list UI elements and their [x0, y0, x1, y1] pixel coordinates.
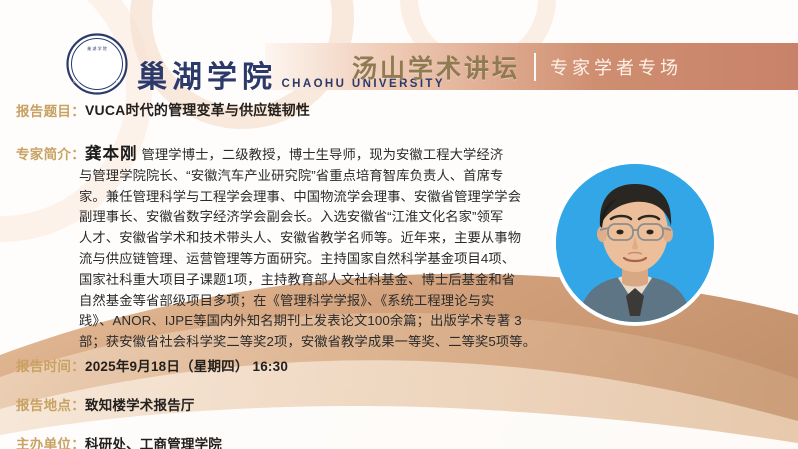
bio-line: 自然基金等省部级项目多项；在《管理科学学报》、《系统工程理论与实 — [16, 291, 556, 312]
bio-first-line: 专家简介： 龚本刚 管理学博士，二级教授，博士生导师，现为安徽工程大学经济 — [16, 140, 556, 166]
university-seal-icon: 巢 湖 学 院 CHAOHU UNIVERSITY — [66, 33, 128, 95]
banner-main-title: 汤山学术讲坛 — [352, 49, 520, 85]
bio-line: 部；获安徽省社会科学奖二等奖2项，安徽省教学成果一等奖、二等奖5项等。 — [16, 332, 556, 353]
info-value: 科研处、工商管理学院 — [85, 433, 222, 449]
speaker-name: 龚本刚 — [85, 140, 138, 164]
lecture-poster: 巢 湖 学 院 CHAOHU UNIVERSITY 巢湖学院 CHAOHU UN… — [0, 0, 798, 449]
bio-line: 流与供应链管理、运营管理等方面研究。主持国家自然科学基金项目4项、 — [16, 249, 556, 270]
info-label: 报告时间： — [16, 355, 85, 375]
logo-name-cn: 巢湖学院 — [137, 60, 277, 95]
report-title-row: 报告题目： VUCA时代的管理变革与供应链韧性 — [16, 100, 310, 120]
banner-text-group: 汤山学术讲坛 专家学者专场 — [352, 48, 682, 86]
info-row: 报告时间： 2025年9月18日（星期四） 16:30 — [16, 355, 288, 375]
speaker-bio: 专家简介： 龚本刚 管理学博士，二级教授，博士生导师，现为安徽工程大学经济 与管… — [16, 140, 556, 353]
event-info: 报告时间： 2025年9月18日（星期四） 16:30 报告地点： 致知楼学术报… — [16, 355, 288, 449]
bio-line: 家。兼任管理科学与工程学会理事、中国物流学会理事、安徽省管理学学会 — [16, 187, 556, 208]
bio-line: 与管理学院院长、“安徽汽车产业研究院”省重点培育智库负责人、首席专 — [16, 166, 556, 187]
bio-line: 管理学博士，二级教授，博士生导师，现为安徽工程大学经济 — [142, 145, 504, 166]
report-title-label: 报告题目： — [16, 100, 85, 120]
info-label: 主办单位： — [16, 433, 85, 449]
info-value: 致知楼学术报告厅 — [85, 394, 195, 414]
bio-line: 践》、ANOR、IJPE等国内外知名期刊上发表论文100余篇；出版学术专著 3 — [16, 311, 556, 332]
info-value: 2025年9月18日（星期四） 16:30 — [85, 355, 288, 375]
bio-line: 国家社科重大项目子课题1项，主持教育部人文社科基金、博士后基金和省 — [16, 270, 556, 291]
svg-text:CHAOHU UNIVERSITY: CHAOHU UNIVERSITY — [73, 80, 121, 84]
info-row: 主办单位： 科研处、工商管理学院 — [16, 433, 288, 449]
svg-text:巢 湖 学 院: 巢 湖 学 院 — [87, 45, 107, 51]
report-title-value: VUCA时代的管理变革与供应链韧性 — [85, 100, 310, 120]
bio-line: 副理事长、安徽省数字经济学会副会长。入选安徽省“江淮文化名家”领军 — [16, 207, 556, 228]
bio-label: 专家简介： — [16, 143, 85, 163]
speaker-portrait — [556, 164, 714, 322]
info-row: 报告地点： 致知楼学术报告厅 — [16, 394, 288, 414]
banner-divider — [534, 53, 536, 81]
bio-line: 人才、安徽省学术和技术带头人、安徽省教学名师等。近年来，主要从事物 — [16, 228, 556, 249]
banner-subtitle: 专家学者专场 — [550, 54, 682, 80]
info-label: 报告地点： — [16, 394, 85, 414]
